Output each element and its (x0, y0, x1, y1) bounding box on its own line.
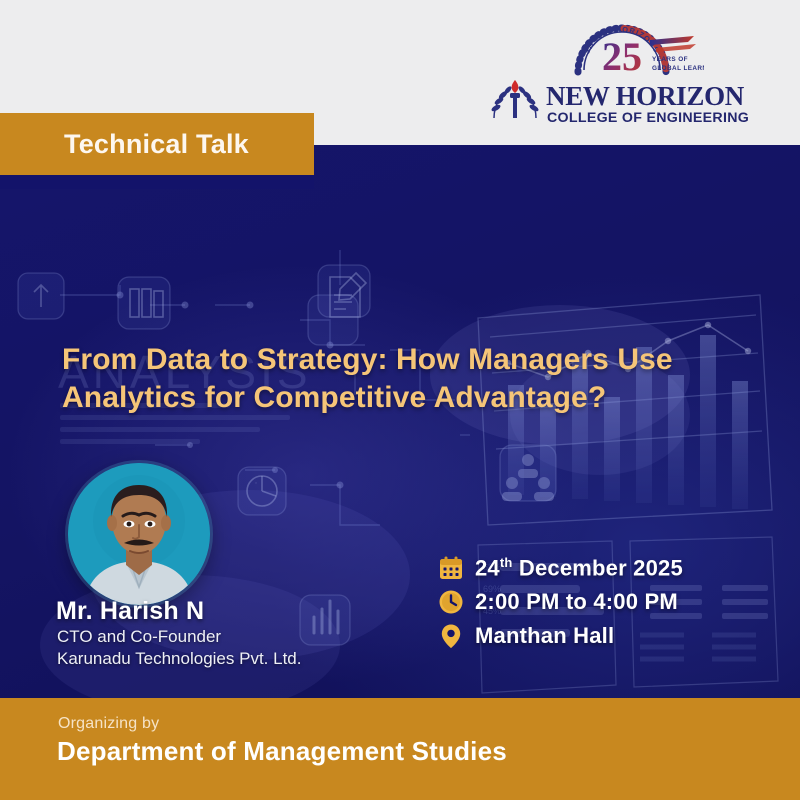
svg-text:GLOBAL LEARNING: GLOBAL LEARNING (652, 65, 704, 72)
speaker-organization: Karunadu Technologies Pvt. Ltd. (57, 648, 301, 670)
speaker-photo (68, 463, 210, 605)
speaker-portrait-illustration (68, 463, 210, 605)
svg-text:YEARS OF: YEARS OF (652, 56, 688, 63)
location-pin-icon (438, 623, 464, 649)
event-date-text: 24th December 2025 (475, 555, 683, 581)
clock-icon (438, 589, 464, 615)
institution-name-line1: NEW HORIZON (546, 81, 745, 111)
organizing-by-label: Organizing by (58, 715, 159, 733)
event-time-text: 2:00 PM to 4:00 PM (475, 589, 678, 615)
institution-name-line2: COLLEGE OF ENGINEERING (547, 110, 749, 126)
footer-band: Organizing by Department of Management S… (0, 698, 800, 800)
event-details: 24th December 2025 2:00 PM to 4:00 PM Ma… (438, 553, 683, 655)
title-line-1: From Data to Strategy: How Managers Use (62, 341, 762, 379)
tab-under-fill (0, 175, 314, 189)
event-venue-text: Manthan Hall (475, 623, 614, 649)
event-date-row: 24th December 2025 (438, 553, 683, 583)
speaker-name: Mr. Harish N (56, 597, 204, 626)
torch-and-laurel-icon (490, 80, 539, 118)
event-time-row: 2:00 PM to 4:00 PM (438, 587, 683, 617)
title-line-2: Analytics for Competitive Advantage? (62, 379, 762, 417)
event-poster: ANALYSIS (0, 0, 800, 800)
badge-number: 25 (602, 34, 642, 79)
calendar-icon (438, 555, 464, 581)
college-name-lockup: NEW HORIZON COLLEGE OF ENGINEERING (484, 78, 754, 128)
page-title: From Data to Strategy: How Managers Use … (62, 341, 762, 417)
technical-talk-tab: Technical Talk (0, 113, 314, 175)
silver-jubilee-badge-icon: SILVER HORIZONS 25 YEARS OF GLOBAL LEARN… (572, 18, 704, 80)
organizing-department: Department of Management Studies (57, 736, 507, 767)
poster-body-background: ANALYSIS (0, 145, 800, 698)
event-venue-row: Manthan Hall (438, 621, 683, 651)
technical-talk-label: Technical Talk (64, 129, 249, 160)
college-logo: SILVER HORIZONS 25 YEARS OF GLOBAL LEARN… (484, 18, 754, 130)
speaker-role: CTO and Co-Founder (57, 626, 221, 648)
